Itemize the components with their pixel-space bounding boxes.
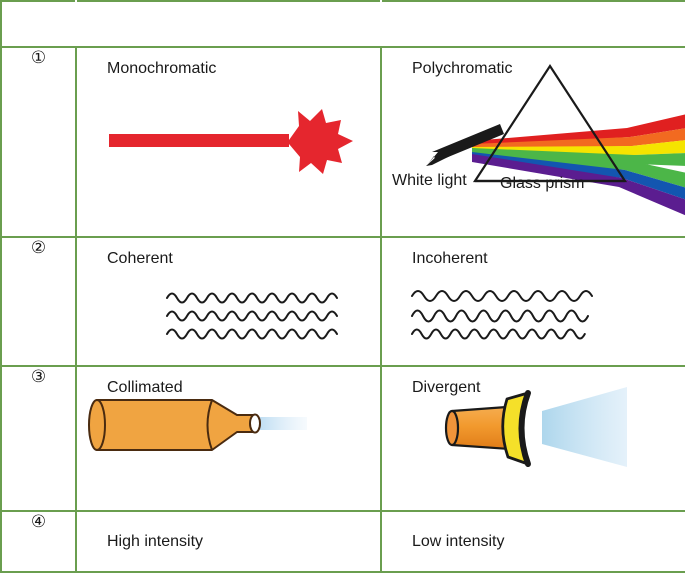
row-number-4: ④ [1,511,76,572]
table-row: ③ Collimated [1,366,685,511]
cell-laser-coherent: Coherent [76,237,381,366]
table-row: ② Coherent Incoherent [1,237,685,366]
label-coherent: Coherent [107,250,173,268]
laser-vs-nonlaser-comparison-table: Laser light Non-laser light(e.g., flashl… [0,0,685,573]
cell-nonlaser-incoherent: Incoherent [381,237,685,366]
header-row: Laser light Non-laser light(e.g., flashl… [1,1,685,47]
row-number-3: ③ [1,366,76,511]
cell-nonlaser-polychromatic: Polychromatic [381,47,685,237]
comparison-table-container: Laser light Non-laser light(e.g., flashl… [0,0,685,569]
annotation-glass-prism: Glass prism [500,175,584,192]
table-header: Laser light Non-laser light(e.g., flashl… [1,1,685,47]
row-number-1: ① [1,47,76,237]
table-row: ① Monochromatic Polychromatic [1,47,685,237]
header-laser-light: Laser light [76,1,381,47]
label-collimated: Collimated [107,379,183,397]
label-high-intensity: High intensity [107,533,203,551]
table-row: ④ High intensity Low intensity [1,511,685,572]
cell-nonlaser-low-intensity: Low intensity [381,511,685,572]
label-polychromatic: Polychromatic [412,60,512,78]
label-divergent: Divergent [412,379,480,397]
header-non-laser-light: Non-laser light(e.g., flashlight) [381,1,685,47]
table-body: ① Monochromatic Polychromatic [1,47,685,572]
label-incoherent: Incoherent [412,250,488,268]
row-number-2: ② [1,237,76,366]
cell-laser-collimated: Collimated [76,366,381,511]
header-blank-cell [1,1,76,47]
label-low-intensity: Low intensity [412,533,505,551]
annotation-white-light: White light [392,172,467,189]
cell-laser-monochromatic: Monochromatic [76,47,381,237]
label-monochromatic: Monochromatic [107,60,216,78]
cell-nonlaser-divergent: Divergent [381,366,685,511]
cell-laser-high-intensity: High intensity [76,511,381,572]
